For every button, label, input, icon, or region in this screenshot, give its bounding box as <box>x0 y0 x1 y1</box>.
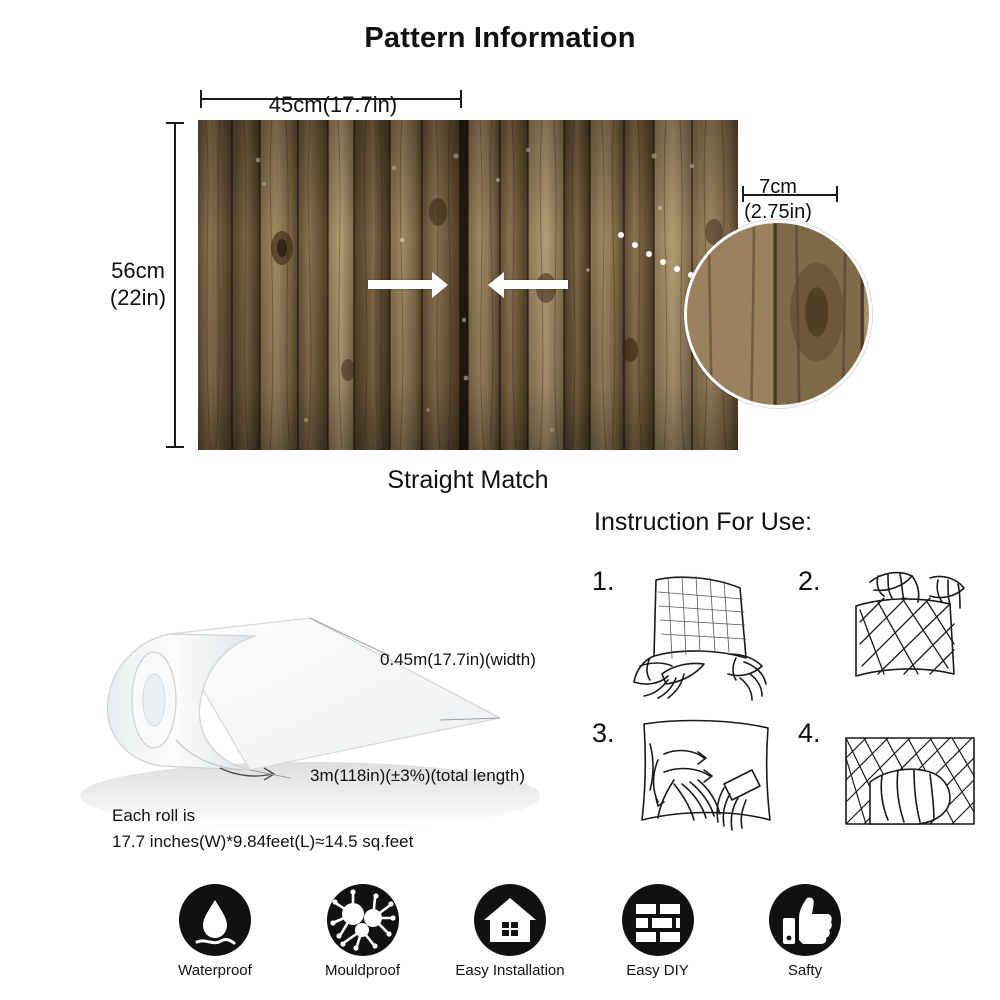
straight-match-arrows <box>368 272 568 298</box>
instruction-step-4: 4. <box>786 712 986 860</box>
instruction-steps: 1. <box>580 560 990 860</box>
feature-badges: Waterproof <box>150 884 870 984</box>
easy-diy-caption: Easy DIY <box>593 962 723 979</box>
height-tick-bottom <box>166 446 184 448</box>
pattern-swatch-group <box>198 120 738 450</box>
instruction-heading: Instruction For Use: <box>594 508 812 537</box>
detail-size-line1: 7cm <box>718 175 838 200</box>
feature-waterproof: Waterproof <box>150 884 280 979</box>
height-tick-top <box>166 122 184 124</box>
roll-length-label: 3m(118in)(±3%)(total length) <box>310 766 525 786</box>
safty-caption: Safty <box>740 962 870 979</box>
arrow-right-head <box>432 272 448 298</box>
each-roll-note: Each roll is 17.7 inches(W)*9.84feet(L)≈… <box>112 803 552 856</box>
mouldproof-badge-circle <box>327 884 399 956</box>
magnified-wood-detail <box>684 220 872 408</box>
pattern-width-label: 45cm(17.7in) <box>198 92 468 118</box>
feature-easy-installation: Easy Installation <box>445 884 575 979</box>
arrow-left-shaft <box>504 280 568 289</box>
step-3-number: 3. <box>592 718 615 749</box>
waterproof-badge-circle <box>179 884 251 956</box>
brick-wall-icon <box>622 884 694 956</box>
arrow-right-shaft <box>368 280 432 289</box>
instruction-step-3: 3. <box>580 712 780 860</box>
pattern-height-line2: (22in) <box>92 285 184 312</box>
pattern-match-label: Straight Match <box>198 466 738 495</box>
each-roll-line1: Each roll is <box>112 803 552 829</box>
hands-squeegee-icon <box>620 714 790 854</box>
mould-spores-icon <box>327 884 399 956</box>
feature-easy-diy: Easy DIY <box>593 884 723 979</box>
page-title: Pattern Information <box>0 22 1000 55</box>
step-4-number: 4. <box>798 718 821 749</box>
house-icon <box>474 884 546 956</box>
water-drop-icon <box>179 884 251 956</box>
arrow-left-head <box>488 272 504 298</box>
instruction-step-2: 2. <box>786 560 986 708</box>
mouldproof-caption: Mouldproof <box>298 962 428 979</box>
instruction-step-1: 1. <box>580 560 780 708</box>
pattern-height-line1: 56cm <box>92 258 184 285</box>
waterproof-caption: Waterproof <box>150 962 280 979</box>
roll-width-label: 0.45m(17.7in)(width) <box>380 650 536 670</box>
feature-mouldproof: Mouldproof <box>298 884 428 979</box>
pattern-information-page: Pattern Information <box>0 0 1000 1000</box>
thumbs-up-icon <box>769 884 841 956</box>
hand-smoothing-wall-icon <box>826 714 996 854</box>
each-roll-line2: 17.7 inches(W)*9.84feet(L)≈14.5 sq.feet <box>112 829 552 855</box>
step-2-number: 2. <box>798 566 821 597</box>
detail-magnifier-circle <box>684 220 872 408</box>
hands-applying-sheet-icon <box>826 562 986 702</box>
safty-badge-circle <box>769 884 841 956</box>
pattern-height-label: 56cm (22in) <box>92 258 184 312</box>
easy-installation-badge-circle <box>474 884 546 956</box>
detail-size-label: 7cm (2.75in) <box>718 175 838 225</box>
easy-installation-caption: Easy Installation <box>445 962 575 979</box>
feature-safty: Safty <box>740 884 870 979</box>
step-1-number: 1. <box>592 566 615 597</box>
easy-diy-badge-circle <box>622 884 694 956</box>
hands-peeling-backing-icon <box>620 562 780 702</box>
